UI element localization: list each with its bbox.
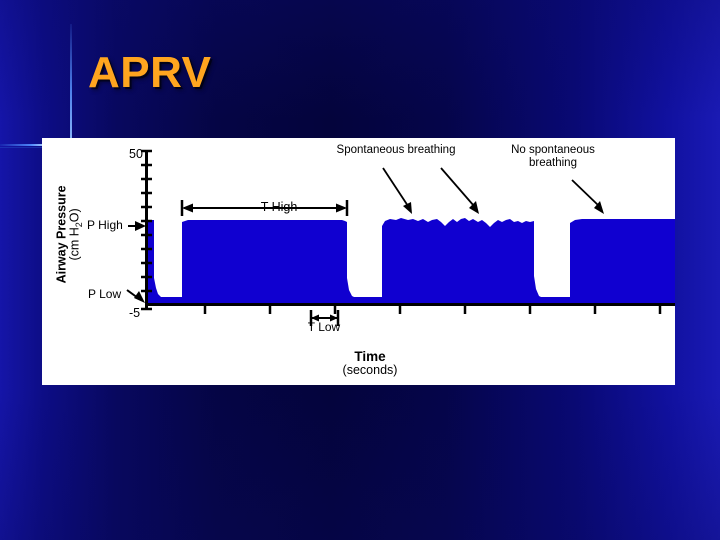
waveform-area xyxy=(146,218,675,303)
p-high-label: P High xyxy=(87,219,123,232)
x-axis-title-line2: (seconds) xyxy=(310,364,430,377)
aprv-waveform-chart xyxy=(42,138,675,385)
no-spontaneous-breathing-label: No spontaneous breathing xyxy=(485,144,621,170)
spontaneous-breathing-label: Spontaneous breathing xyxy=(316,144,476,157)
figure-inner: Airway Pressure (cm H2O) Time (seconds) … xyxy=(42,138,675,385)
y-axis-tick-label-max: 50 xyxy=(129,147,143,161)
decorative-vertical-line xyxy=(70,24,72,146)
spontaneous-breathing-arrow-2 xyxy=(441,168,479,214)
t-low-label: T Low xyxy=(285,321,363,334)
y-axis-title-line2: (cm H2O) xyxy=(69,159,85,309)
y-axis-title: Airway Pressure (cm H2O) xyxy=(56,159,85,309)
y-axis-tick-label-min: -5 xyxy=(129,306,140,320)
page-title: APRV xyxy=(88,48,211,98)
t-high-label: T High xyxy=(217,200,341,214)
slide: APRV xyxy=(0,0,720,540)
spontaneous-breathing-arrow-1 xyxy=(383,168,412,214)
x-axis-title-line1: Time xyxy=(310,350,430,364)
x-axis-title: Time (seconds) xyxy=(310,350,430,377)
figure-panel: Airway Pressure (cm H2O) Time (seconds) … xyxy=(42,138,675,385)
p-high-arrow xyxy=(128,221,146,231)
decorative-horizontal-line-secondary xyxy=(0,147,44,148)
p-low-label: P Low xyxy=(88,288,121,301)
no-spontaneous-breathing-arrow xyxy=(572,180,604,214)
decorative-horizontal-line xyxy=(0,144,44,146)
